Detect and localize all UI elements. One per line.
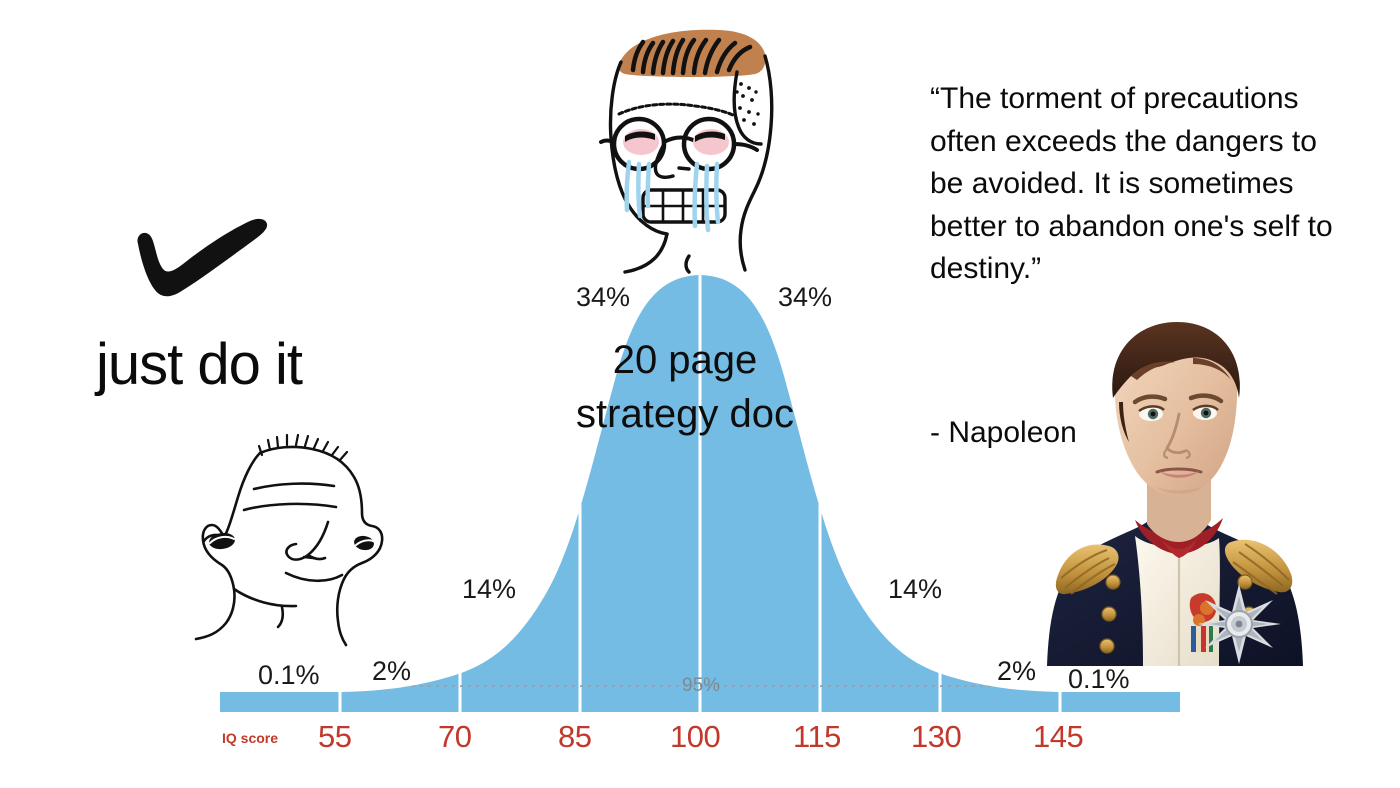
pct-label-3: 34% [576, 284, 630, 311]
pct-label-1: 2% [372, 658, 411, 685]
eye-whites [623, 129, 729, 155]
x-tick-70: 70 [438, 721, 471, 752]
meme-canvas: 0.1% 2% 14% 34% 34% 14% 2% 0.1% 95% IQ s… [0, 0, 1400, 788]
pct-label-7: 0.1% [1068, 666, 1130, 693]
stubble-dots [734, 82, 759, 126]
napoleon-quote-text: “The torment of precautions often exceed… [930, 78, 1345, 291]
strategy-doc-line-1: 20 page [545, 333, 825, 387]
check-icon [128, 216, 278, 306]
x-tick-55: 55 [318, 721, 351, 752]
strategy-doc-line-2: strategy doc [545, 387, 825, 441]
pct-label-6: 2% [997, 658, 1036, 685]
strategy-doc-caption: 20 page strategy doc [545, 333, 825, 441]
napoleon-portrait [1043, 306, 1305, 666]
x-tick-145: 145 [1033, 721, 1083, 752]
x-tick-130: 130 [911, 721, 961, 752]
pct-label-4: 34% [778, 284, 832, 311]
interval-label-95: 95% [682, 676, 720, 695]
x-tick-85: 85 [558, 721, 591, 752]
pct-label-2: 14% [462, 576, 516, 603]
axis-caption-iq-score: IQ score [222, 731, 278, 745]
x-tick-115: 115 [793, 721, 841, 752]
just-do-it-caption: just do it [96, 336, 302, 394]
pct-label-5: 14% [888, 576, 942, 603]
x-tick-100: 100 [670, 721, 720, 752]
crying-soyjak-character [585, 18, 810, 288]
pct-label-0: 0.1% [258, 662, 320, 689]
brainlet-wojak-character [182, 425, 402, 660]
